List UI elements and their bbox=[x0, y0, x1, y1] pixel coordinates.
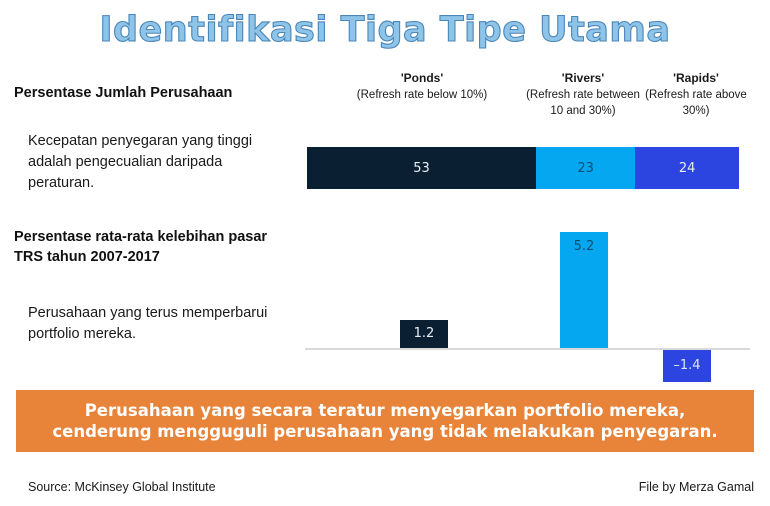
callout-banner: Perusahaan yang secara teratur menyegark… bbox=[16, 390, 754, 452]
column-header-ponds-name: 'Ponds' bbox=[347, 70, 497, 86]
bar-ponds-value: 1.2 bbox=[400, 326, 448, 341]
footer-source: Source: McKinsey Global Institute bbox=[28, 480, 216, 494]
bar-rapids: –1.4 bbox=[663, 350, 711, 382]
column-header-rivers-sub: (Refresh rate between 10 and 30%) bbox=[525, 88, 641, 119]
bar-rivers: 5.2 bbox=[560, 232, 608, 348]
callout-line-2: cenderung mengguguli perusahaan yang tid… bbox=[52, 421, 717, 442]
row-1-heading: Persentase Jumlah Perusahaan bbox=[14, 84, 282, 104]
column-header-ponds: 'Ponds' (Refresh rate below 10%) bbox=[347, 70, 497, 104]
stacked-bar-chart: 53 23 24 bbox=[307, 147, 739, 189]
column-header-rapids: 'Rapids' (Refresh rate above 30%) bbox=[640, 70, 752, 119]
row-2-body: Perusahaan yang terus memperbarui portfo… bbox=[28, 303, 286, 345]
footer-credit: File by Merza Gamal bbox=[639, 480, 754, 494]
callout-line-1: Perusahaan yang secara teratur menyegark… bbox=[85, 400, 686, 421]
stacked-bar-segment-rivers: 23 bbox=[536, 147, 635, 189]
column-header-rapids-name: 'Rapids' bbox=[640, 70, 752, 86]
column-bar-chart: 1.2 5.2 –1.4 bbox=[305, 228, 750, 384]
page-title: Identifikasi Tiga Tipe Utama bbox=[0, 10, 770, 50]
stacked-bar-segment-rapids: 24 bbox=[635, 147, 739, 189]
row-2-heading: Persentase rata-rata kelebihan pasar TRS… bbox=[14, 228, 282, 267]
bar-rapids-value: –1.4 bbox=[663, 358, 711, 373]
stacked-bar-segment-ponds: 53 bbox=[307, 147, 536, 189]
column-header-ponds-sub: (Refresh rate below 10%) bbox=[347, 88, 497, 104]
bar-ponds: 1.2 bbox=[400, 320, 448, 348]
column-header-rivers-name: 'Rivers' bbox=[525, 70, 641, 86]
column-header-rapids-sub: (Refresh rate above 30%) bbox=[640, 88, 752, 119]
row-1-body: Kecepatan penyegaran yang tinggi adalah … bbox=[28, 131, 286, 194]
bar-rivers-value: 5.2 bbox=[560, 239, 608, 254]
column-header-rivers: 'Rivers' (Refresh rate between 10 and 30… bbox=[525, 70, 641, 119]
